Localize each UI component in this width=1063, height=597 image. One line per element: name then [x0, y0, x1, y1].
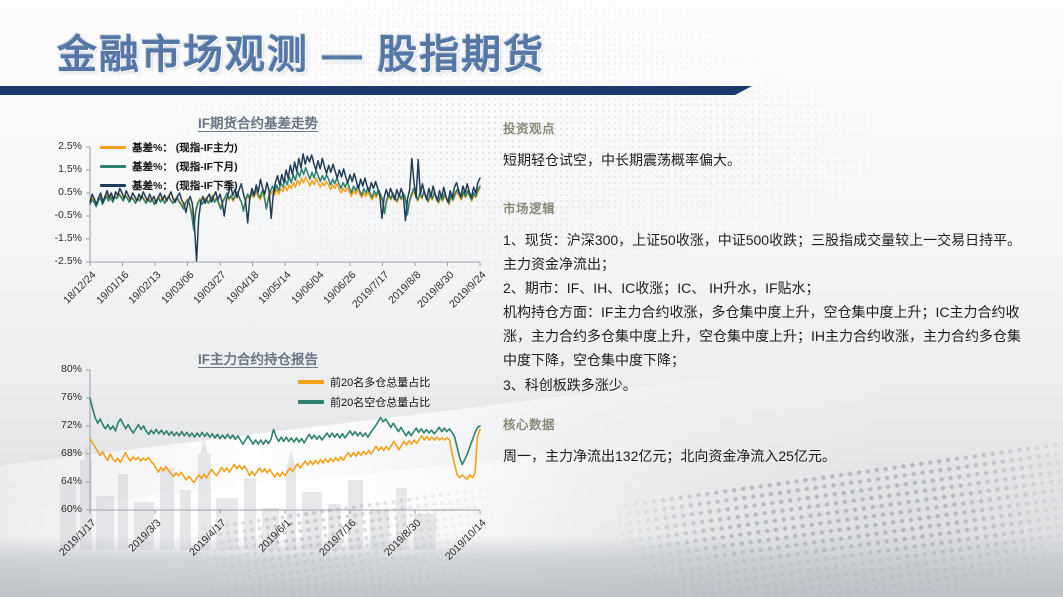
section-paragraph: 周一，主力净流出132亿元；北向资金净流入25亿元。: [503, 444, 1033, 468]
section-paragraph: 机构持仓方面：IF主力合约收涨，多仓集中度上升，空仓集中度上升；IC主力合约收涨…: [503, 300, 1033, 372]
chart-basis-trend-plot: [28, 112, 488, 327]
header-accent-bar: [0, 86, 752, 95]
chart-basis-trend: IF期货合约基差走势 2.5%1.5%0.5%-0.5%-1.5%-2.5% 1…: [28, 112, 488, 327]
section-paragraph: 1、现货：沪深300，上证50收涨，中证500收跌；三股指成交量较上一交易日持平…: [503, 228, 1033, 276]
page-title: 金融市场观测 — 股指期货: [57, 22, 545, 80]
section-paragraph: 3、科创板跌多涨少。: [503, 373, 1033, 397]
section-heading-2: 核心数据: [503, 414, 1033, 433]
section-spacer: [503, 397, 1033, 414]
chart-position-report: IF主力合约持仓报告 80%76%72%68%64%60% 2019/1/172…: [28, 348, 488, 533]
chart-position-report-plot: [28, 348, 488, 533]
section-spacer: [503, 172, 1033, 198]
slide-root: 金融市场观测 — 股指期货 IF期货合约基差走势 2.5%1.5%0.5%-0.…: [0, 0, 1063, 597]
section-paragraph: 2、期市：IF、IH、IC收涨；IC、 IH升水，IF贴水；: [503, 276, 1033, 300]
section-paragraph: 短期轻仓试空，中长期震荡概率偏大。: [503, 148, 1033, 172]
section-heading-0: 投资观点: [503, 118, 1033, 137]
commentary-panel: 投资观点短期轻仓试空，中长期震荡概率偏大。市场逻辑1、现货：沪深300，上证50…: [503, 118, 1033, 468]
slide-header: 金融市场观测 — 股指期货: [0, 0, 1063, 95]
section-heading-1: 市场逻辑: [503, 198, 1033, 217]
